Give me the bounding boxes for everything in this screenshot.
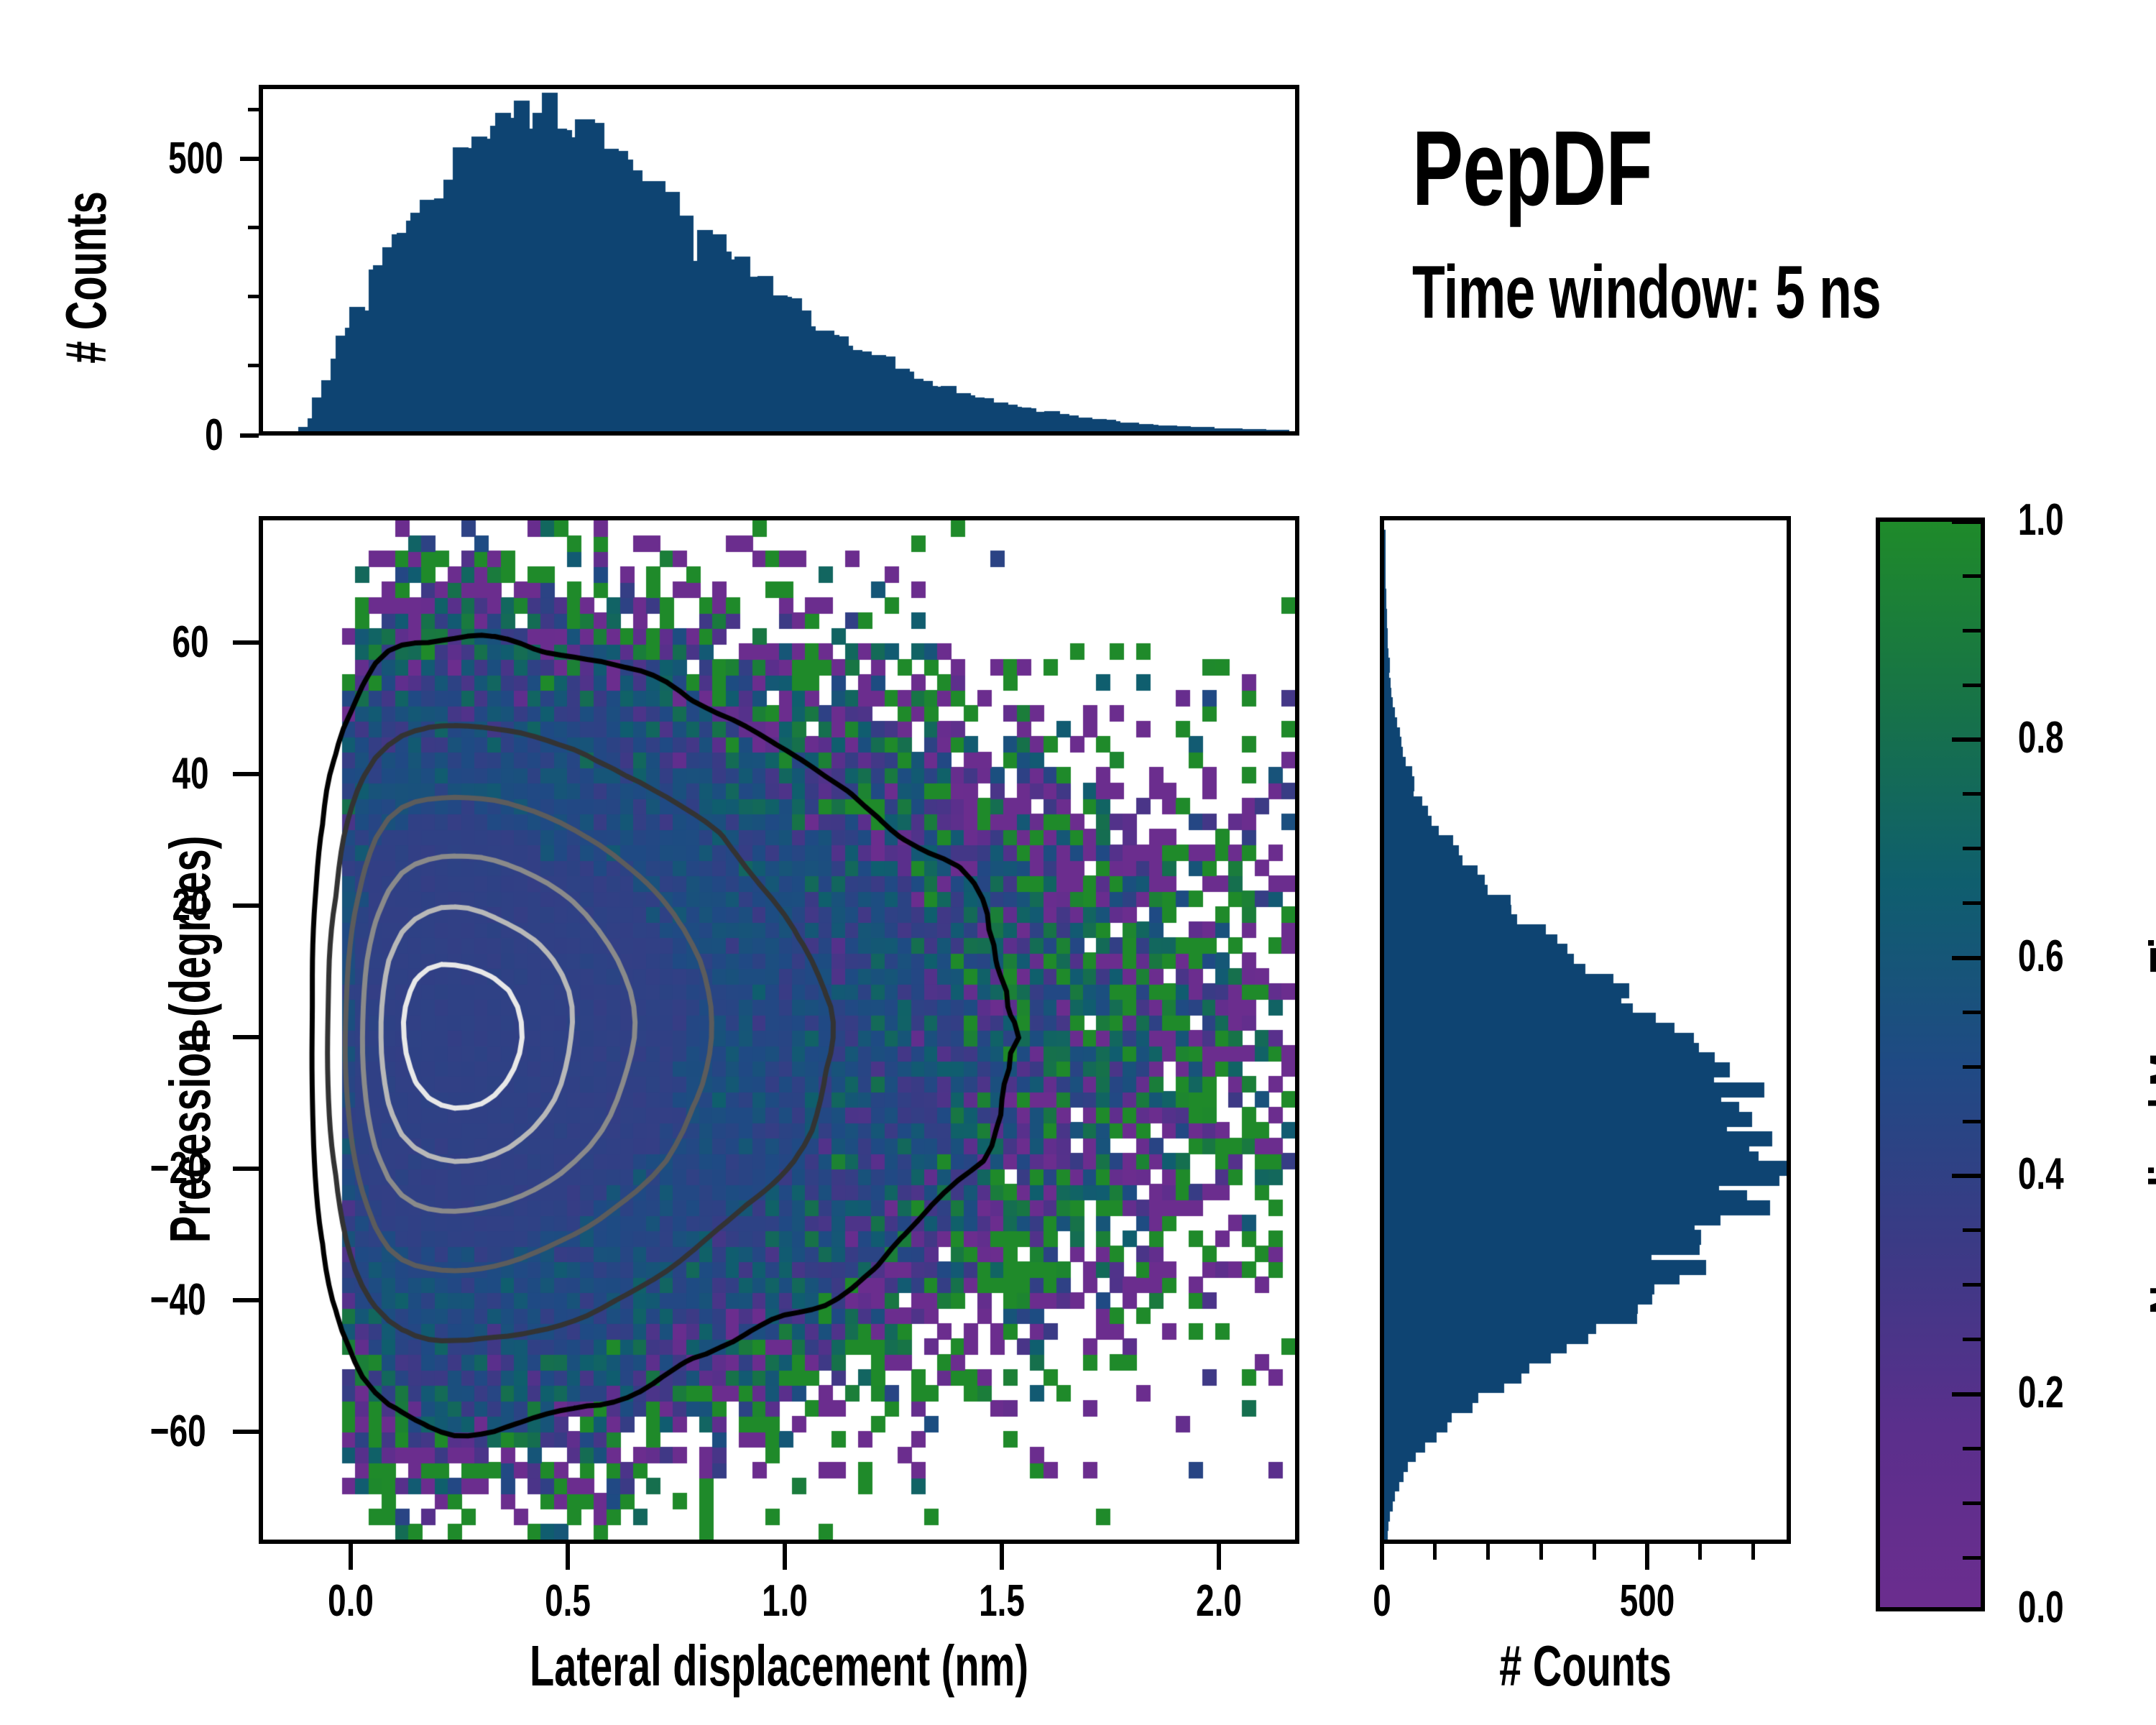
main-xtick-0.5 — [566, 1544, 570, 1570]
main-xtick-label-1.0: 1.0 — [732, 1575, 838, 1627]
cbar-minor-8 — [1963, 1065, 1985, 1069]
right-hist-xtick-minor-4 — [1593, 1544, 1596, 1560]
cbar-minor-7 — [1963, 1011, 1985, 1014]
right-marginal-histogram-panel — [1380, 516, 1791, 1544]
main-xtick-label-1.5: 1.5 — [949, 1575, 1055, 1627]
cbar-tick-0.6 — [1952, 956, 1985, 960]
cbar-minor-6 — [1963, 901, 1985, 905]
cbar-minor-2 — [1963, 629, 1985, 632]
right-hist-xtick-label-0: 0 — [1342, 1575, 1422, 1627]
top-histogram-canvas — [263, 89, 1295, 431]
main-xlabel: Lateral displacement (nm) — [477, 1633, 1081, 1699]
main-ylabel: Precession (degrees) — [157, 813, 224, 1266]
main-ytick-label-60: 60 — [129, 617, 209, 668]
right-hist-xtick-minor-2 — [1486, 1544, 1490, 1560]
joint-heatmap-canvas — [263, 520, 1295, 1540]
main-ytick-m60 — [233, 1430, 259, 1434]
main-ytick-40 — [233, 772, 259, 776]
main-ytick-label-m40: −40 — [110, 1274, 206, 1325]
main-ytick-label-40: 40 — [129, 748, 209, 799]
top-hist-ytick-0 — [240, 433, 259, 438]
main-xtick-1.0 — [783, 1544, 787, 1570]
cbar-minor-9 — [1963, 1120, 1985, 1123]
cbar-tick-0.8 — [1952, 737, 1985, 742]
figure-root: 500 0 # Counts 60 40 20 0 −20 −40 −60 Pr… — [0, 0, 2156, 1725]
cbar-minor-4 — [1963, 792, 1985, 796]
main-xtick-label-0.0: 0.0 — [298, 1575, 404, 1627]
main-ytick-0 — [233, 1035, 259, 1039]
main-ytick-m20 — [233, 1167, 259, 1171]
right-hist-xtick-label-500: 500 — [1594, 1575, 1700, 1627]
cbar-tick-label-0.0: 0.0 — [2018, 1582, 2140, 1633]
right-hist-xtick-minor-3 — [1539, 1544, 1543, 1560]
top-hist-ytick-minor-1 — [248, 364, 259, 367]
main-joint-plot-panel — [259, 516, 1299, 1544]
cbar-tick-label-0.8: 0.8 — [2018, 712, 2140, 763]
cbar-tick-label-0.6: 0.6 — [2018, 931, 2140, 982]
cbar-minor-11 — [1963, 1283, 1985, 1287]
main-ytick-20 — [233, 903, 259, 908]
right-hist-xtick-0 — [1380, 1544, 1384, 1570]
top-hist-ytick-label-500: 500 — [165, 133, 223, 184]
cbar-tick-0.0 — [1952, 1607, 1985, 1611]
right-hist-xtick-minor-5 — [1698, 1544, 1702, 1560]
cbar-tick-label-1.0: 1.0 — [2018, 494, 2140, 546]
figure-title: PepDF — [1412, 108, 1652, 230]
right-hist-xtick-500 — [1645, 1544, 1649, 1570]
cbar-minor-12 — [1963, 1338, 1985, 1341]
top-hist-ytick-500 — [240, 157, 259, 161]
main-xtick-0.0 — [349, 1544, 353, 1570]
main-xtick-label-2.0: 2.0 — [1166, 1575, 1272, 1627]
right-histogram-canvas — [1384, 520, 1787, 1540]
cbar-tick-1.0 — [1952, 520, 1985, 524]
cbar-minor-15 — [1963, 1556, 1985, 1560]
main-xtick-1.5 — [1000, 1544, 1004, 1570]
cbar-tick-label-0.4: 0.4 — [2018, 1149, 2140, 1200]
top-hist-ytick-minor-4 — [248, 108, 259, 111]
cbar-minor-14 — [1963, 1501, 1985, 1505]
right-hist-xtick-minor-6 — [1751, 1544, 1755, 1560]
cbar-tick-0.4 — [1952, 1174, 1985, 1178]
figure-subtitle: Time window: 5 ns — [1412, 250, 1881, 336]
cbar-tick-0.2 — [1952, 1392, 1985, 1397]
main-xtick-2.0 — [1217, 1544, 1221, 1570]
top-hist-ytick-minor-2 — [248, 295, 259, 298]
cbar-minor-3 — [1963, 684, 1985, 687]
top-hist-ytick-minor-3 — [248, 226, 259, 229]
main-ytick-m40 — [233, 1298, 259, 1302]
cbar-minor-13 — [1963, 1447, 1985, 1450]
right-hist-xtick-minor-1 — [1433, 1544, 1437, 1560]
main-xtick-label-0.5: 0.5 — [515, 1575, 621, 1627]
top-marginal-histogram-panel — [259, 85, 1299, 436]
main-ytick-label-m60: −60 — [110, 1406, 206, 1457]
top-hist-ylabel: # Counts — [53, 172, 119, 383]
main-ytick-60 — [233, 640, 259, 645]
cbar-tick-label-0.2: 0.2 — [2018, 1367, 2140, 1418]
right-hist-xlabel: # Counts — [1434, 1633, 1736, 1699]
colorbar-label: Normalized Mean Time — [2137, 870, 2156, 1323]
cbar-minor-10 — [1963, 1228, 1985, 1232]
top-hist-ytick-label-0: 0 — [165, 410, 223, 461]
cbar-minor-5 — [1963, 847, 1985, 850]
cbar-minor-1 — [1963, 574, 1985, 578]
